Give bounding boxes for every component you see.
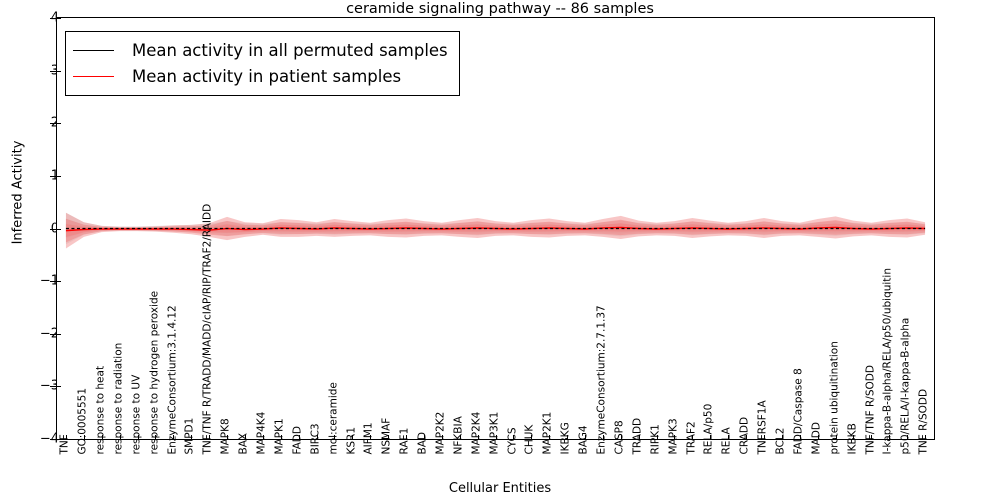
x-axis-tick-label: IKBKG <box>561 422 572 454</box>
chart-title: ceramide signaling pathway -- 86 samples <box>0 1 1000 17</box>
x-axis-tick-label: TNF <box>60 434 71 454</box>
x-axis-tick-label: MAPK1 <box>274 418 285 454</box>
x-axis-tick-label: RIPK1 <box>650 424 661 454</box>
x-axis-tick-label: MAP3K1 <box>489 412 500 455</box>
legend-label: Mean activity in all permuted samples <box>132 41 448 60</box>
x-axis-tick-label: SMPD1 <box>185 418 196 455</box>
y-axis-inner-tick-mark <box>57 176 61 177</box>
x-axis-tick-label: response to hydrogen peroxide <box>149 291 160 455</box>
x-axis-tick-label: AIFM1 <box>364 422 375 454</box>
x-axis-tick-label: EnzymeConsortium:3.1.4.12 <box>167 305 178 454</box>
x-axis-tick-label: response to heat <box>95 366 106 455</box>
x-axis-tick-label: BAD <box>418 432 429 454</box>
y-axis-inner-tick-mark <box>57 123 61 124</box>
y-axis-inner-tick-mark <box>57 386 61 387</box>
x-axis-tick-label: KSR1 <box>346 427 357 455</box>
x-axis-tick-label: BCL2 <box>776 428 787 455</box>
legend-label: Mean activity in patient samples <box>132 67 401 86</box>
x-axis-tick-label: GO:0005551 <box>78 388 89 455</box>
x-axis-tick-label: MADD <box>811 422 822 454</box>
x-axis-tick-label: TNFRSF1A <box>758 400 769 454</box>
legend-item[interactable]: Mean activity in patient samples <box>73 63 448 89</box>
x-axis-tick-label: NSMAF <box>382 418 393 455</box>
x-axis-tick-label: IKBKB <box>847 423 858 454</box>
x-axis-tick-label: BIRC3 <box>310 423 321 454</box>
x-axis-tick-label: EnzymeConsortium:2.7.1.37 <box>597 305 608 454</box>
x-axis-tick-label: protein ubiquitination <box>829 341 840 454</box>
x-axis-tick-label: NFKBIA <box>453 416 464 454</box>
x-axis-tick-label: p50/RELA/I-kappa-B-alpha <box>901 318 912 455</box>
x-axis-tick-label: CASP8 <box>614 420 625 454</box>
x-axis-tick-label: BAG4 <box>579 425 590 454</box>
x-axis-tick-label: RELA/p50 <box>704 404 715 455</box>
x-axis-tick-label: I-kappa-B-alpha/RELA/p50/ubiquitin <box>883 268 894 455</box>
x-axis-tick-label: response to radiation <box>113 343 124 455</box>
chart-figure: ceramide signaling pathway -- 86 samples… <box>0 0 1000 500</box>
x-axis-tick-label: FADD/Caspase 8 <box>793 368 804 454</box>
legend-line-swatch <box>73 76 114 77</box>
legend-item[interactable]: Mean activity in all permuted samples <box>73 37 448 63</box>
x-axis-tick-label: CYCS <box>507 428 518 455</box>
y-axis-inner-tick-mark <box>57 71 61 72</box>
y-axis-inner-tick-mark <box>57 334 61 335</box>
y-axis-inner-tick-mark <box>57 281 61 282</box>
x-axis-tick-label: RELA <box>722 427 733 454</box>
y-axis-inner-tick-mark <box>57 229 61 230</box>
x-axis-tick-label: MAP4K4 <box>257 412 268 455</box>
x-axis-tick-label: TRAF2 <box>686 421 697 454</box>
x-axis-tick-label: BAX <box>239 433 250 455</box>
x-axis-tick-label: TNF/TNF R/TRADD/MADD/cIAP/RIP/TRAF2/RAID… <box>203 204 214 455</box>
x-axis-tick-label: response to UV <box>131 375 142 455</box>
x-axis-tick-label: MAP2K1 <box>543 412 554 455</box>
x-axis-tick-label: CHUK <box>525 425 536 455</box>
chart-legend: Mean activity in all permuted samplesMea… <box>65 31 460 96</box>
x-axis-tick-label: FADD <box>292 426 303 454</box>
x-axis-tick-label: RAF1 <box>400 428 411 455</box>
x-axis-tick-label: TNF R/SODD <box>919 389 930 455</box>
x-axis-tick-label: MAP2K4 <box>471 412 482 455</box>
x-axis-tick-label: MAPK3 <box>668 418 679 454</box>
y-axis-inner-tick-mark <box>57 18 61 19</box>
x-axis-tick-label: TNF/TNF R/SODD <box>865 365 876 454</box>
x-axis-tick-label: TRADD <box>632 418 643 455</box>
x-axis-tick-label: CRADD <box>740 417 751 455</box>
x-axis-tick-label: MAP2K2 <box>436 412 447 455</box>
x-axis-tick-label: MAPK8 <box>221 418 232 454</box>
x-axis-tick-label: mol:ceramide <box>328 382 339 454</box>
legend-line-swatch <box>73 50 114 51</box>
x-axis-label: Cellular Entities <box>0 481 1000 496</box>
